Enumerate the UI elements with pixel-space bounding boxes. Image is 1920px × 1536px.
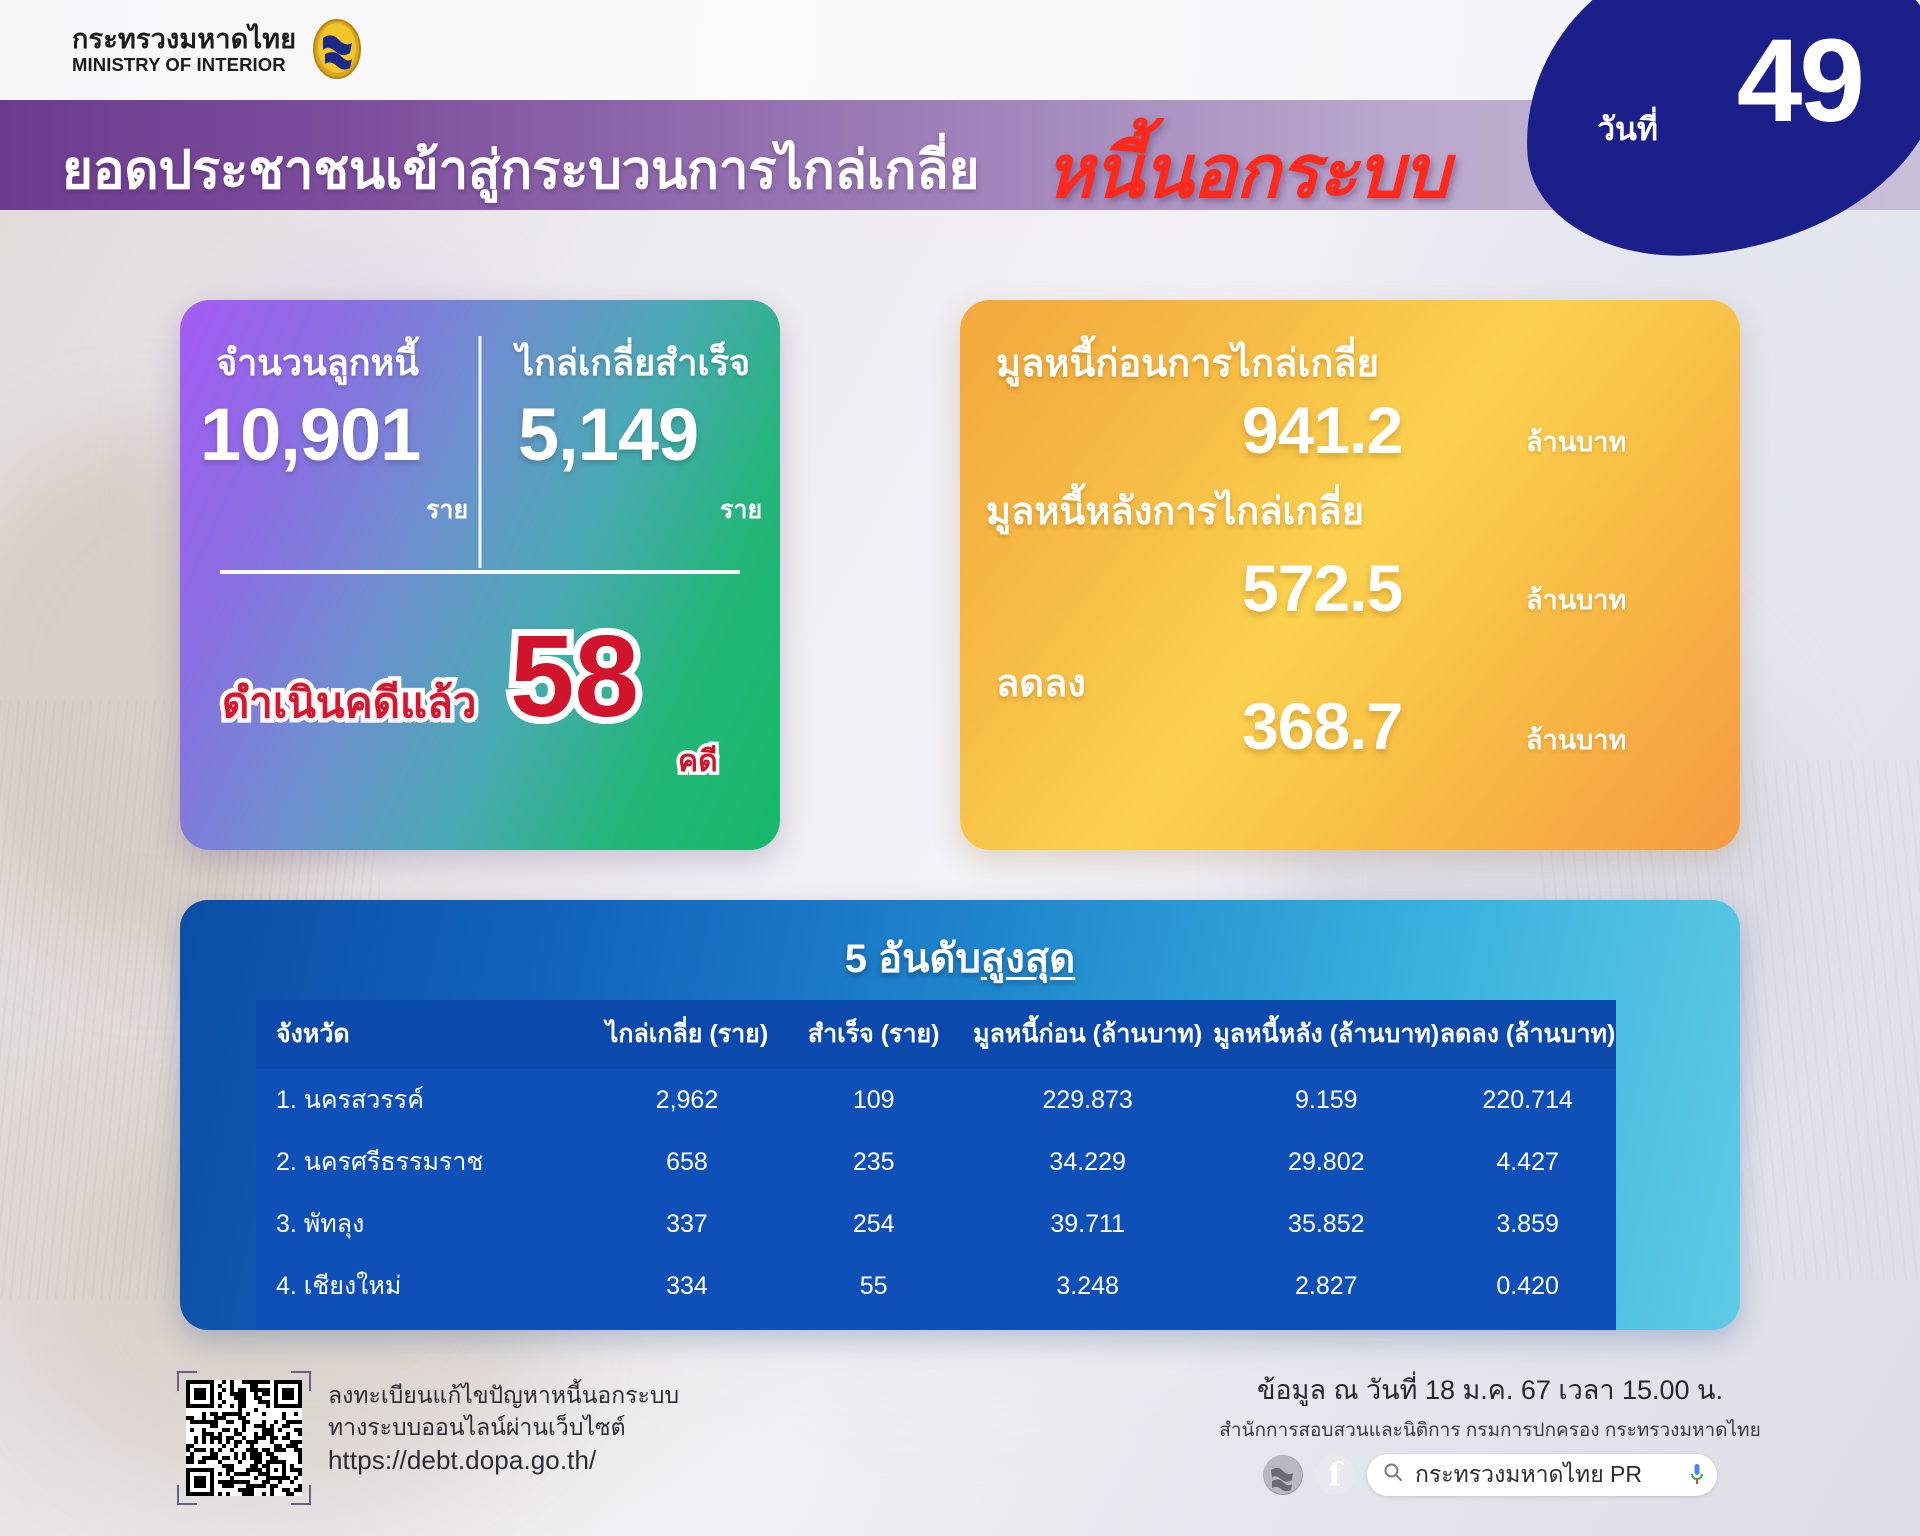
col-reduced: ลดลง (ล้านบาท) [1439,1000,1616,1069]
ministry-seal-icon [310,18,364,82]
cell-after: 18.204 [1213,1317,1439,1330]
ranking-table: จังหวัด ไกล่เกลี่ย (ราย) สำเร็จ (ราย) มู… [256,1000,1616,1330]
cell-province: 2. นครศรีธรรมราช [256,1131,588,1193]
qr-canvas [186,1380,302,1496]
col-success: สำเร็จ (ราย) [785,1000,962,1069]
debt-before-label: มูลหนี้ก่อนการไกล่เกลี่ย [996,332,1379,393]
cell-after: 35.852 [1213,1193,1439,1255]
ranking-title-underlined: สูงสุด [981,937,1075,981]
card-vertical-divider [479,336,482,568]
debtors-label: จำนวนลูกหนี้ [216,334,419,391]
cell-province: 1. นครสวรรค์ [256,1069,588,1131]
col-debt-before: มูลหนี้ก่อน (ล้านบาท) [962,1000,1213,1069]
microphone-icon[interactable] [1690,1463,1703,1487]
debt-after-unit: ล้านบาท [1526,578,1626,621]
registration-text: ลงทะเบียนแก้ไขปัญหาหนี้นอกระบบ ทางระบบออ… [328,1380,679,1479]
debt-before-unit: ล้านบาท [1526,420,1626,463]
cell-before: 3.248 [962,1255,1213,1317]
social-row: f กระทรวงมหาดไทย PR [1200,1454,1780,1496]
col-province: จังหวัด [256,1000,588,1069]
debt-reduced-unit: ล้านบาท [1526,718,1626,761]
cell-reduced: 0.420 [1439,1255,1616,1317]
debt-reduced-value: 368.7 [1242,688,1402,764]
cell-mediated: 334 [588,1255,785,1317]
cell-success: 235 [785,1131,962,1193]
success-unit: ราย [720,490,762,530]
register-line-2: ทางระบบออนไลน์ผ่านเว็บไซต์ [328,1412,679,1444]
cell-after: 2.827 [1213,1255,1439,1317]
top5-ranking-panel: 5 อันดับสูงสุด จังหวัด ไกล่เกลี่ย (ราย) … [180,900,1740,1330]
debt-before-value: 941.2 [1242,392,1402,468]
debt-reduced-label: ลดลง [996,652,1086,713]
day-number: 49 [1737,22,1862,140]
col-mediated: ไกล่เกลี่ย (ราย) [588,1000,785,1069]
cell-success: 55 [785,1255,962,1317]
qr-bracket-icon [291,1485,311,1505]
register-line-1: ลงทะเบียนแก้ไขปัญหาหนี้นอกระบบ [328,1380,679,1412]
search-input[interactable]: กระทรวงมหาดไทย PR [1415,1457,1678,1493]
cell-mediated: 337 [588,1193,785,1255]
source-organization: สำนักการสอบสวนและนิติการ กรมการปกครอง กร… [1200,1415,1780,1445]
qr-bracket-icon [291,1371,311,1391]
cell-success: 109 [785,1069,962,1131]
page-title: ยอดประชาชนเข้าสู่กระบวนการไกล่เกลี่ย [62,128,979,212]
debt-stats-card: มูลหนี้ก่อนการไกล่เกลี่ย 941.2 ล้านบาท ม… [960,300,1740,850]
prosecuted-label: ดำเนินคดีแล้ว [222,670,476,736]
cell-after: 9.159 [1213,1069,1439,1131]
data-asof-date: ข้อมูล ณ วันที่ 18 ม.ค. 67 เวลา 15.00 น. [1200,1368,1780,1411]
cell-after: 29.802 [1213,1131,1439,1193]
cell-reduced: 2.145 [1439,1317,1616,1330]
success-label: ไกล่เกลี่ยสำเร็จ [516,334,750,391]
search-bar[interactable]: กระทรวงมหาดไทย PR [1367,1454,1717,1496]
table-row: 3. พัทลุง 337 254 39.711 35.852 3.859 [256,1193,1616,1255]
ministry-name-en: MINISTRY OF INTERIOR [72,55,296,75]
cell-before: 34.229 [962,1131,1213,1193]
debtors-value: 10,901 [200,392,420,477]
prosecuted-value: 58 [510,618,639,734]
table-head: จังหวัด ไกล่เกลี่ย (ราย) สำเร็จ (ราย) มู… [256,1000,1616,1069]
day-label: วันที่ [1597,104,1658,155]
search-icon [1383,1462,1403,1488]
cell-success: 254 [785,1193,962,1255]
prosecuted-unit: คดี [678,738,718,785]
registration-block: ลงทะเบียนแก้ไขปัญหาหนี้นอกระบบ ทางระบบออ… [186,1380,679,1496]
cell-reduced: 4.427 [1439,1131,1616,1193]
cell-reduced: 3.859 [1439,1193,1616,1255]
col-debt-after: มูลหนี้หลัง (ล้านบาท) [1213,1000,1439,1069]
ranking-title: 5 อันดับสูงสุด [180,926,1740,990]
cell-province: 3. พัทลุง [256,1193,588,1255]
ministry-logo: กระทรวงมหาดไทย MINISTRY OF INTERIOR [72,18,364,82]
table-row: 5. สงขลา 323 222 20.349 18.204 2.145 [256,1317,1616,1330]
ranking-table-wrapper: จังหวัด ไกล่เกลี่ย (ราย) สำเร็จ (ราย) มู… [256,1000,1616,1330]
page-title-highlight: หนี้นอกระบบ [1045,112,1449,230]
cell-before: 39.711 [962,1193,1213,1255]
debt-after-value: 572.5 [1242,550,1402,626]
cell-before: 20.349 [962,1317,1213,1330]
ranking-title-prefix: 5 อันดับ [845,937,981,981]
table-body: 1. นครสวรรค์ 2,962 109 229.873 9.159 220… [256,1069,1616,1330]
cell-province: 4. เชียงใหม่ [256,1255,588,1317]
table-header-row: จังหวัด ไกล่เกลี่ย (ราย) สำเร็จ (ราย) มู… [256,1000,1616,1069]
table-row: 2. นครศรีธรรมราช 658 235 34.229 29.802 4… [256,1131,1616,1193]
ministry-name-th: กระทรวงมหาดไทย [72,25,296,54]
qr-bracket-icon [177,1371,197,1391]
cell-mediated: 2,962 [588,1069,785,1131]
table-row: 1. นครสวรรค์ 2,962 109 229.873 9.159 220… [256,1069,1616,1131]
cell-province: 5. สงขลา [256,1317,588,1330]
debt-after-label: มูลหนี้หลังการไกล่เกลี่ย [986,480,1364,541]
qr-bracket-icon [177,1485,197,1505]
source-block: ข้อมูล ณ วันที่ 18 ม.ค. 67 เวลา 15.00 น.… [1200,1368,1780,1496]
qr-code[interactable] [186,1380,302,1496]
cell-before: 229.873 [962,1069,1213,1131]
facebook-icon[interactable]: f [1315,1455,1355,1495]
card-horizontal-divider [220,570,740,574]
register-url[interactable]: https://debt.dopa.go.th/ [328,1443,679,1479]
cell-reduced: 220.714 [1439,1069,1616,1131]
table-row: 4. เชียงใหม่ 334 55 3.248 2.827 0.420 [256,1255,1616,1317]
debtors-unit: ราย [426,490,468,530]
cell-mediated: 658 [588,1131,785,1193]
cell-mediated: 323 [588,1317,785,1330]
ministry-seal-icon [1263,1455,1303,1495]
cell-success: 222 [785,1317,962,1330]
people-stats-card: จำนวนลูกหนี้ 10,901 ราย ไกล่เกลี่ยสำเร็จ… [180,300,780,850]
success-value: 5,149 [518,392,698,477]
